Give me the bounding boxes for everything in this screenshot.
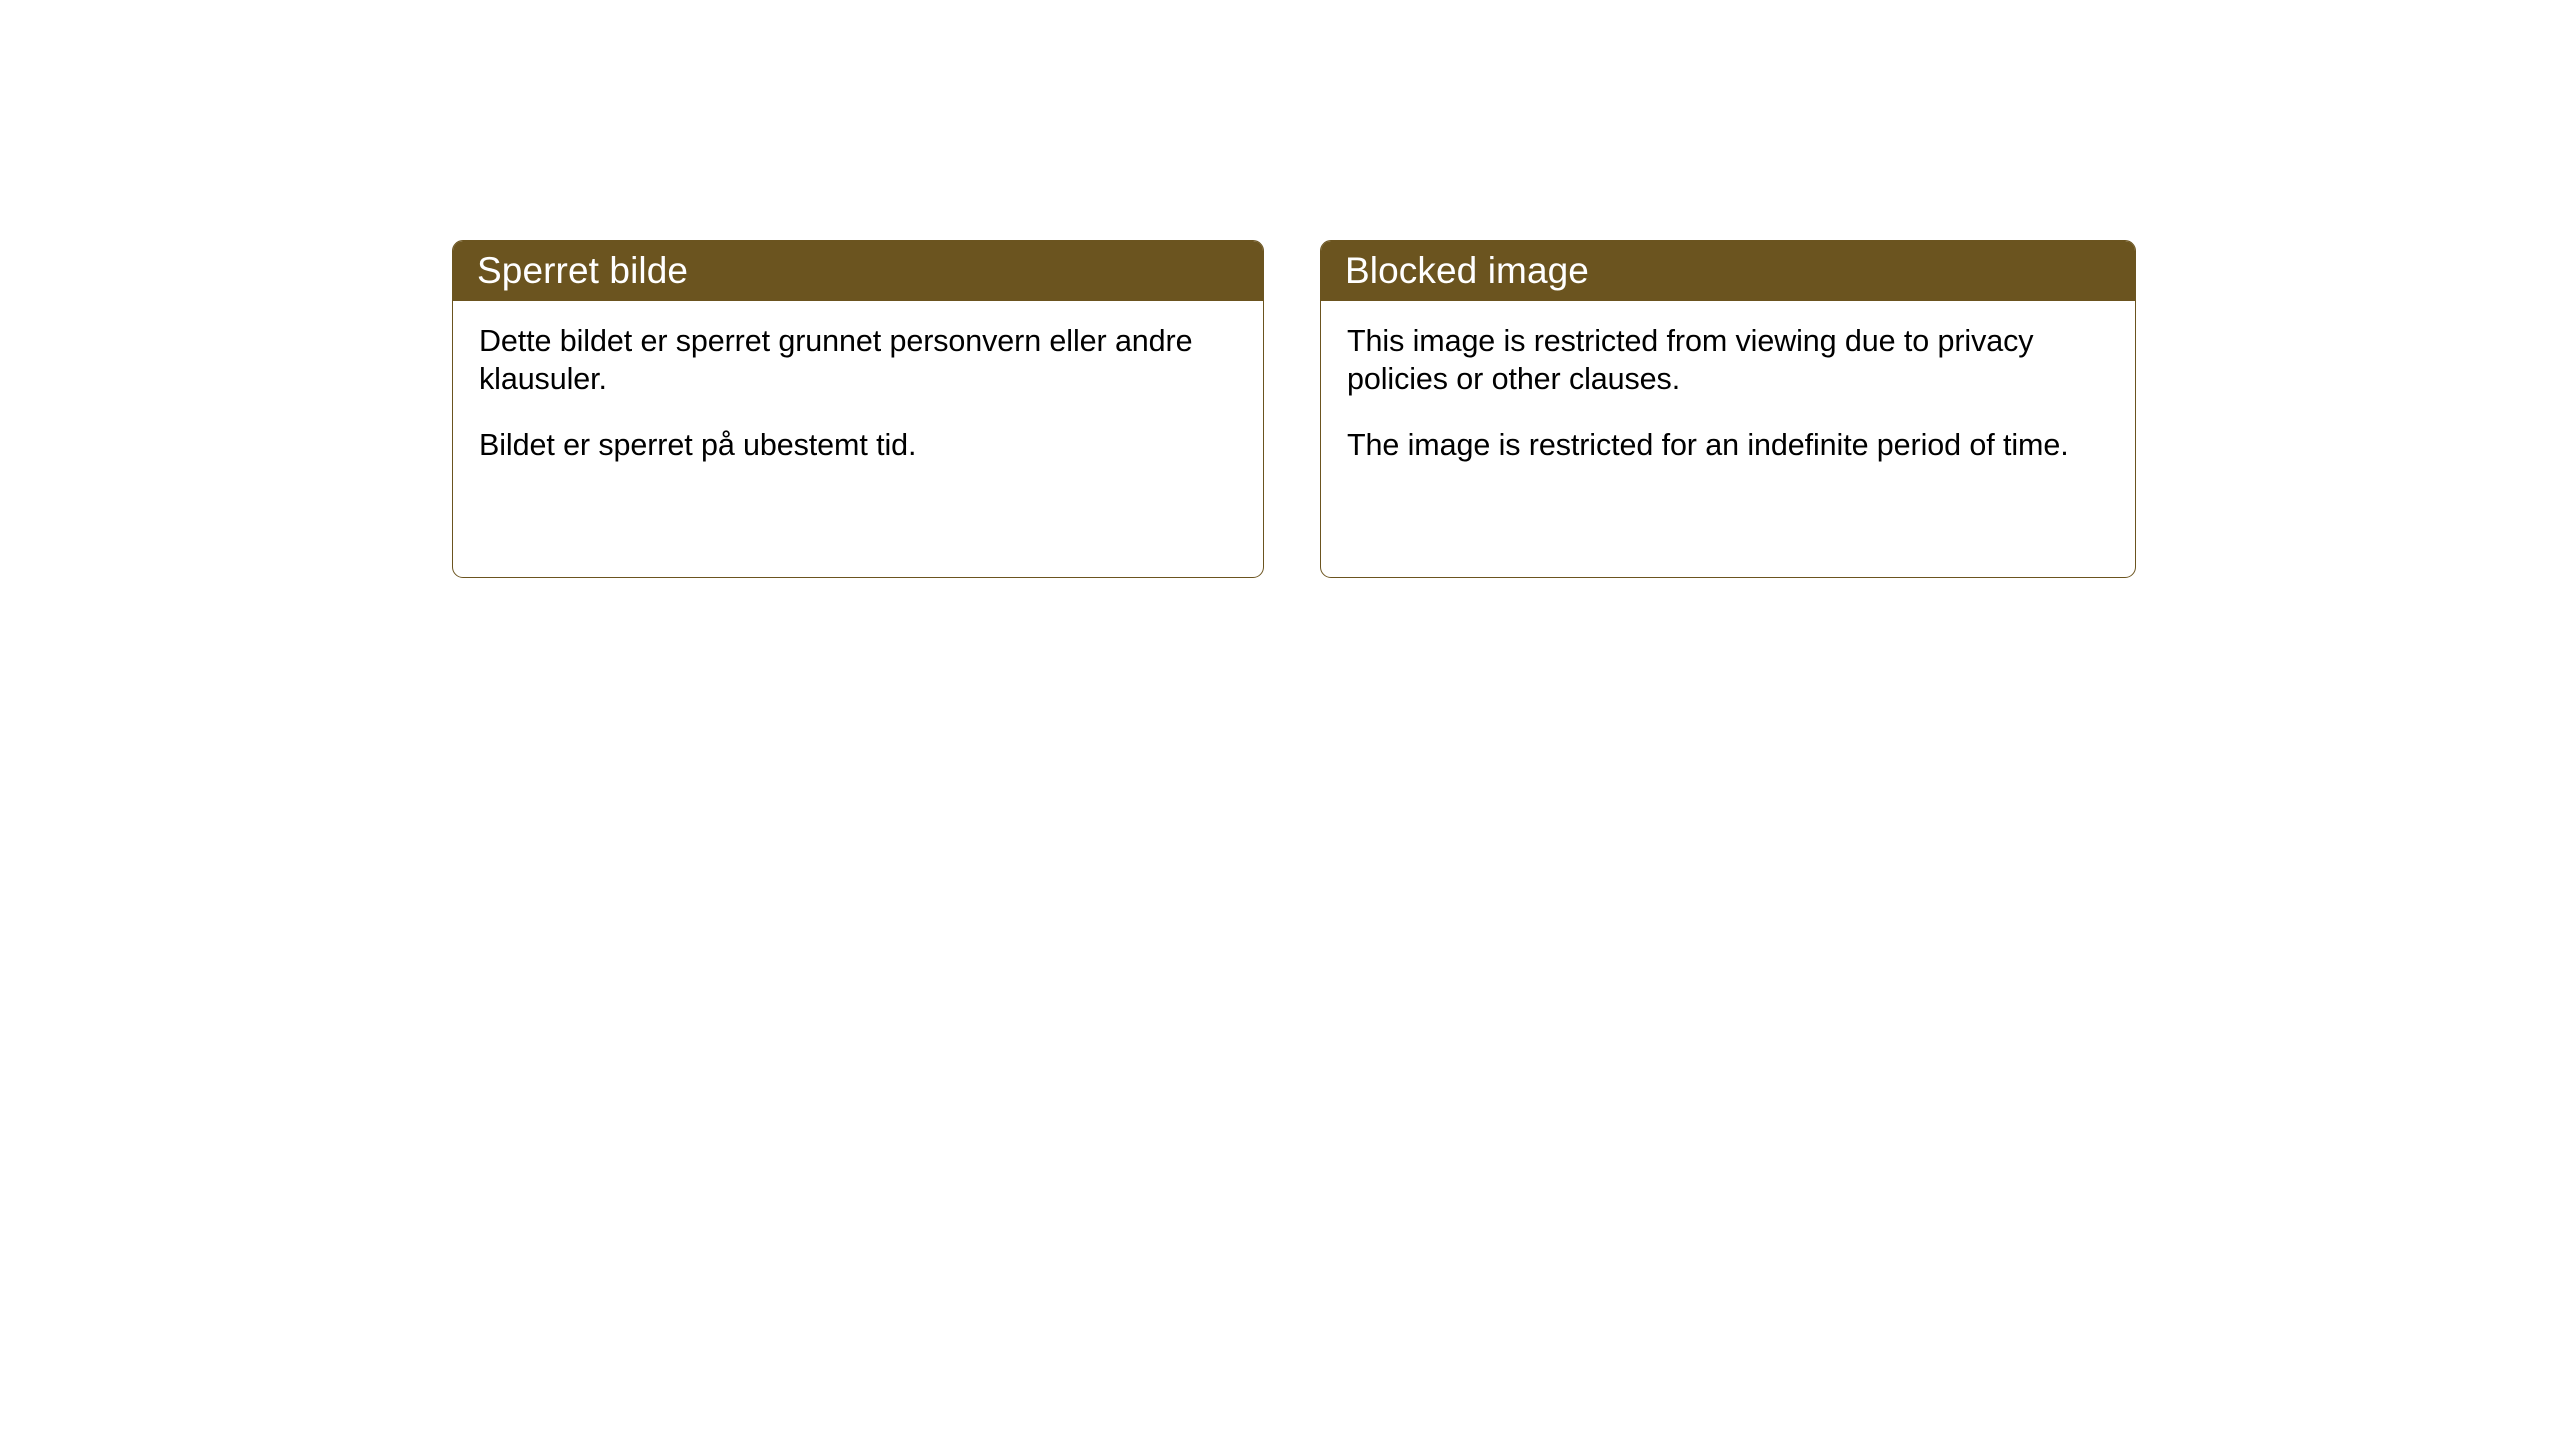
blocked-image-card-en: Blocked image This image is restricted f… [1320,240,2136,578]
card-title-en: Blocked image [1345,252,1589,289]
card-header-no: Sperret bilde [453,241,1263,301]
card-message-primary-en: This image is restricted from viewing du… [1347,323,2109,398]
card-body-no: Dette bildet er sperret grunnet personve… [453,301,1263,465]
card-message-secondary-no: Bildet er sperret på ubestemt tid. [479,427,1237,465]
card-header-en: Blocked image [1321,241,2135,301]
card-title-no: Sperret bilde [477,252,688,289]
blocked-image-card-no: Sperret bilde Dette bildet er sperret gr… [452,240,1264,578]
card-body-en: This image is restricted from viewing du… [1321,301,2135,465]
page-canvas: Sperret bilde Dette bildet er sperret gr… [0,0,2560,1440]
card-message-secondary-en: The image is restricted for an indefinit… [1347,427,2109,465]
card-message-primary-no: Dette bildet er sperret grunnet personve… [479,323,1237,398]
